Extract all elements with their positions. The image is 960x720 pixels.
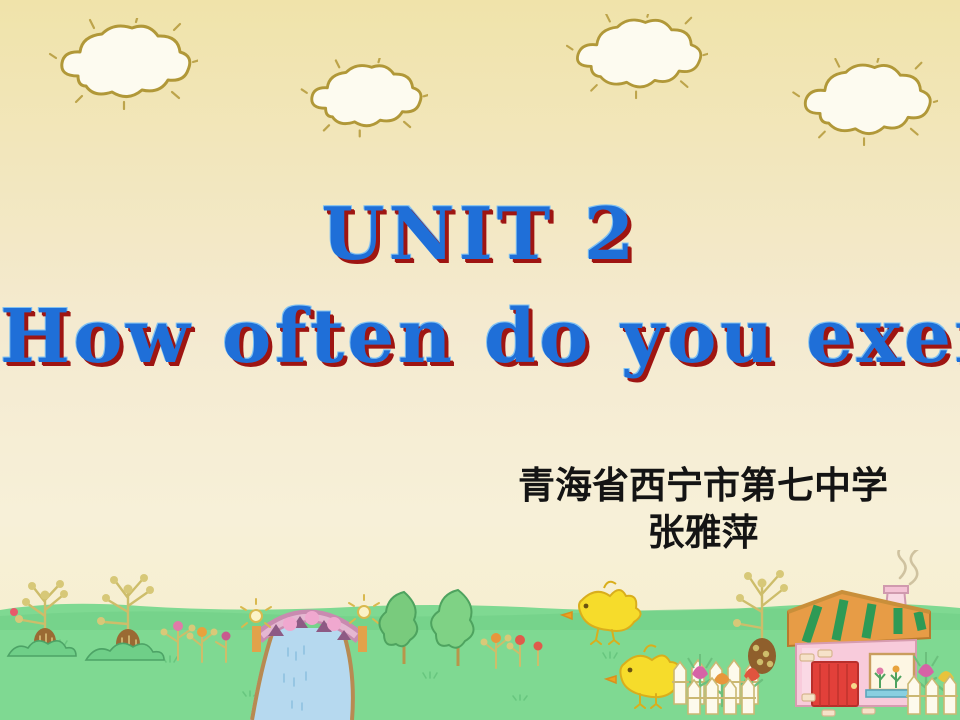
cloud-top-right-icon — [566, 14, 708, 100]
berry-left — [10, 608, 18, 616]
title-line-2: How often do you exercise? — [0, 298, 960, 376]
title-block: UNIT 2 How often do you exercise? — [0, 196, 960, 377]
presenter-school: 青海省西宁市第七中学 — [518, 463, 888, 507]
title-line-1: UNIT 2 — [0, 196, 960, 272]
presenter-block: 青海省西宁市第七中学 张雅萍 — [468, 462, 938, 555]
chick-eye — [584, 604, 589, 609]
presentation-slide: UNIT 2 How often do you exercise? 青海省西宁市… — [0, 0, 960, 720]
cloud-top-far-right-icon — [792, 58, 938, 146]
cloud-top-mid-icon — [300, 58, 428, 138]
bridge-post-left — [252, 626, 261, 652]
ground-scene — [0, 550, 960, 720]
cloud-top-left-icon — [48, 18, 198, 110]
door-knob — [851, 683, 857, 689]
presenter-name: 张雅萍 — [468, 509, 938, 556]
chimney-smoke — [898, 550, 918, 584]
house-door — [812, 662, 858, 706]
chick-tuft — [604, 582, 616, 588]
bridge-post-right — [358, 626, 367, 652]
